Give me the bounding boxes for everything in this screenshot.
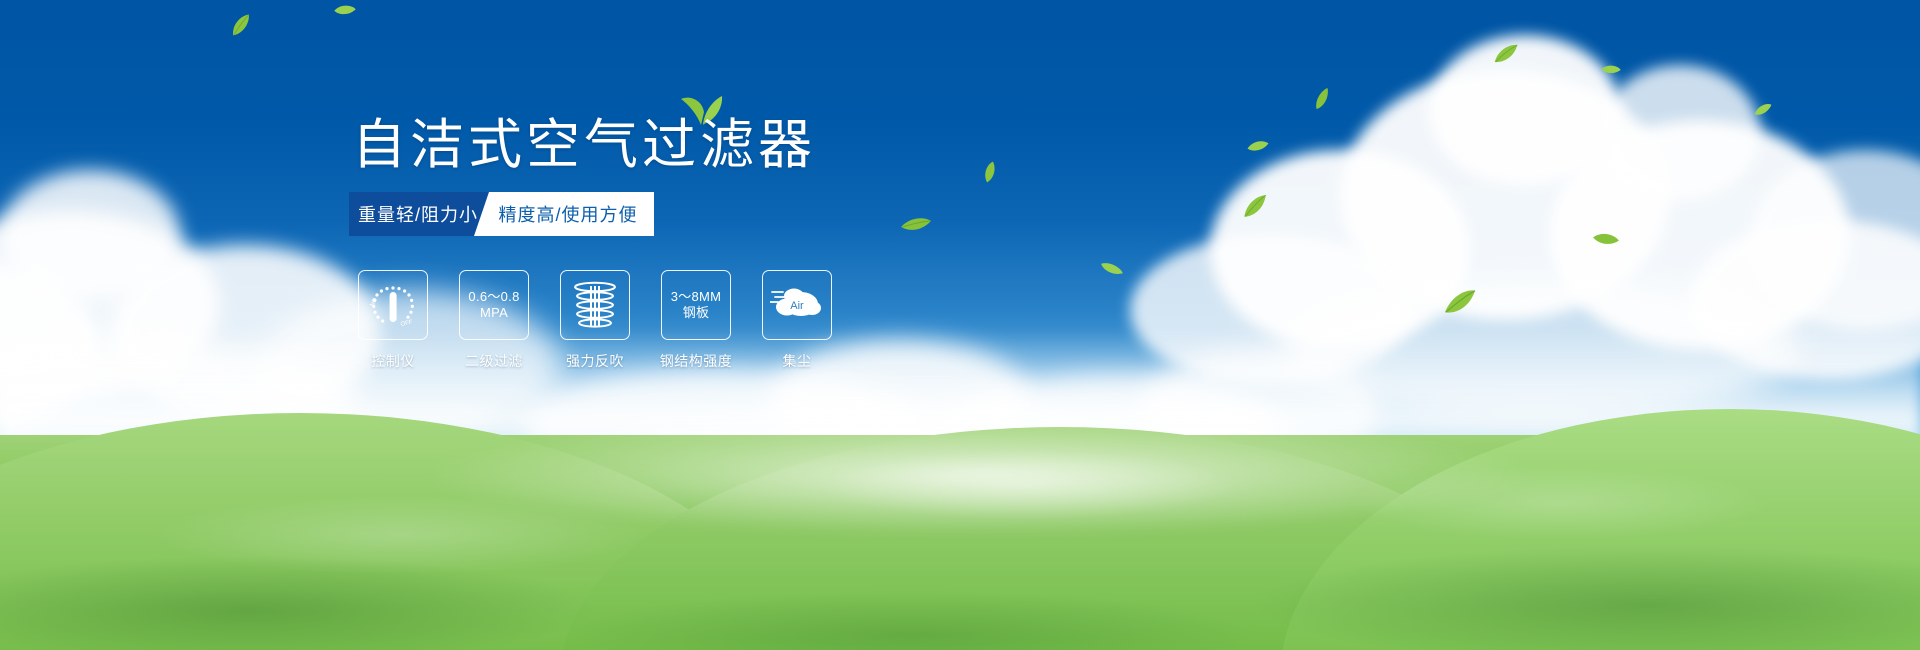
feature-icon-box [560,270,630,340]
tag-primary-label: 重量轻/阻力小 [358,201,478,227]
feature-row: NO OFF 控制仪 0.6～0.8MPA 二级过滤 [358,270,832,371]
tag-weight-resistance[interactable]: 重量轻/阻力小 [349,192,489,236]
feature-caption: 集尘 [783,351,812,371]
feature-icon-box: 3～8MM钢板 [661,270,731,340]
feature-item-secondary-filter[interactable]: 0.6～0.8MPA 二级过滤 [459,270,529,371]
steel-plate-text-icon: 3～8MM钢板 [671,289,722,322]
hero-banner: 自洁式空气过滤器 重量轻/阻力小 精度高/使用方便 [0,0,1920,650]
feature-icon-box: Air [762,270,832,340]
pressure-text-icon: 0.6～0.8MPA [468,289,519,322]
control-dial-icon: NO OFF [367,279,419,331]
dial-label-no: NO [369,297,379,308]
tag-row: 重量轻/阻力小 精度高/使用方便 [349,192,654,236]
dial-label-off: OFF [400,320,413,328]
feature-caption: 强力反吹 [566,351,624,371]
page-title: 自洁式空气过滤器 [352,118,816,172]
air-label: Air [790,300,804,312]
feature-item-backblow[interactable]: 强力反吹 [560,270,630,371]
filter-coil-icon [571,280,619,330]
air-cloud-icon: Air [770,283,824,327]
feature-item-dust-collection[interactable]: Air 集尘 [762,270,832,371]
feature-icon-box: 0.6～0.8MPA [459,270,529,340]
feature-caption: 钢结构强度 [660,351,733,371]
feature-caption: 二级过滤 [465,351,523,371]
feature-caption: 控制仪 [371,351,415,371]
banner-content: 自洁式空气过滤器 重量轻/阻力小 精度高/使用方便 [0,0,1920,650]
tag-secondary-label: 精度高/使用方便 [498,201,637,227]
feature-icon-box: NO OFF [358,270,428,340]
tag-precision-convenience[interactable]: 精度高/使用方便 [474,192,654,236]
feature-item-steel-strength[interactable]: 3～8MM钢板 钢结构强度 [661,270,731,371]
feature-item-controller[interactable]: NO OFF 控制仪 [358,270,428,371]
